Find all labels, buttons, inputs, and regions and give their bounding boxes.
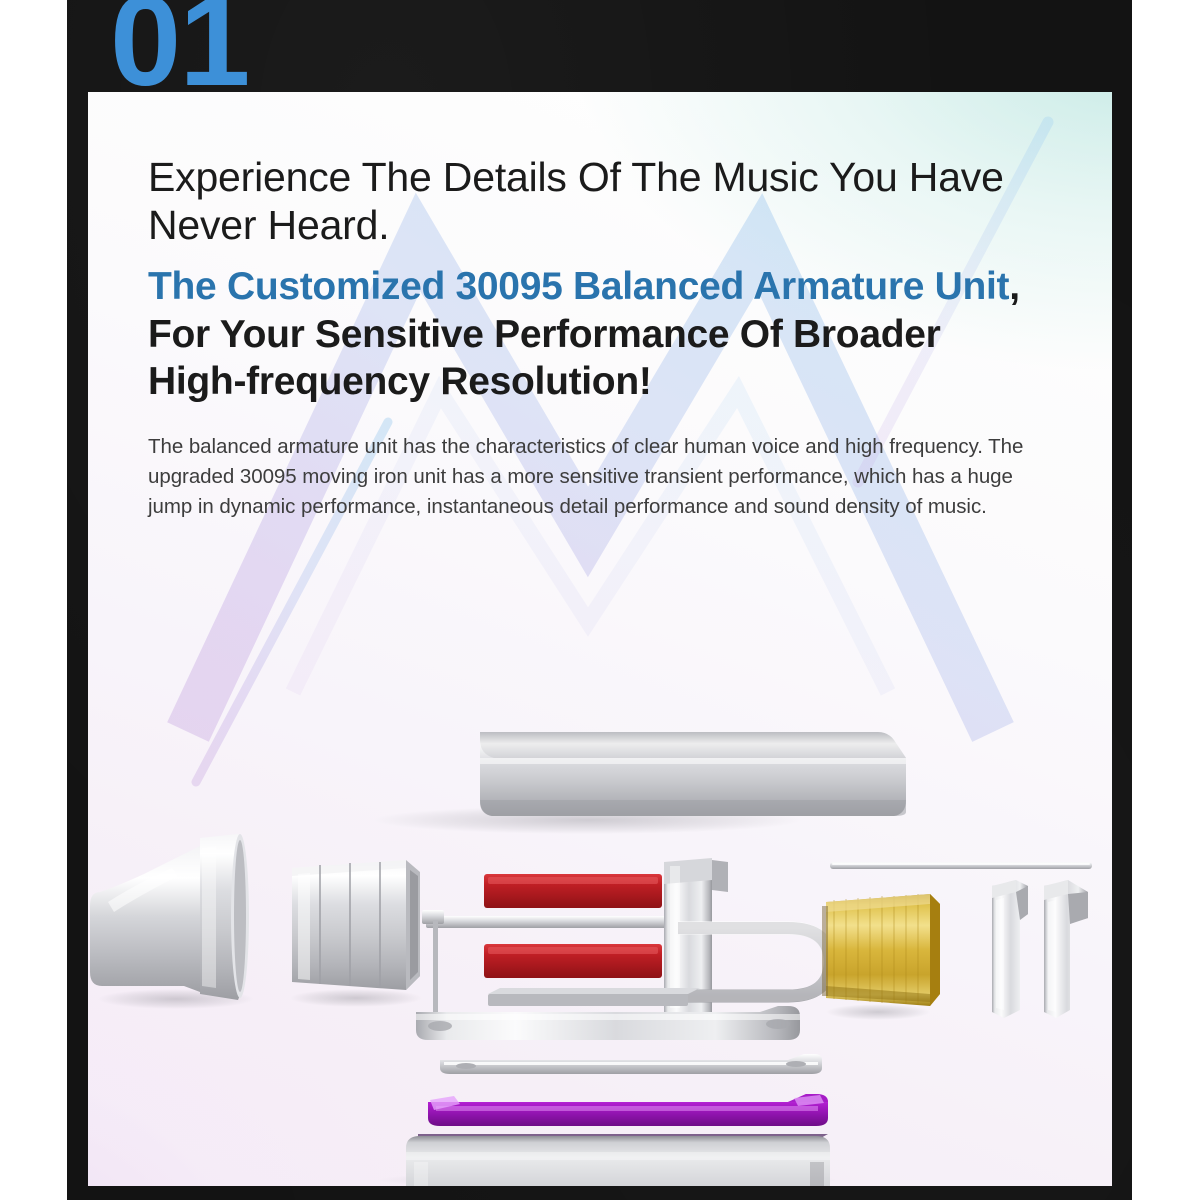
headline-line-2: Never Heard. <box>148 202 389 248</box>
part-ribbed-spacer-cylinder <box>290 860 422 1007</box>
page-subheading: The Customized 30095 Balanced Armature U… <box>148 263 1048 406</box>
part-lower-magnet-bar <box>484 944 662 978</box>
body-paragraph: The balanced armature unit has the chara… <box>148 432 1048 522</box>
part-base-frame-plate <box>416 1006 800 1040</box>
page-root: 01 <box>0 0 1200 1200</box>
part-right-terminal-bracket <box>1044 880 1088 1018</box>
part-upper-magnet-bar <box>484 874 662 908</box>
text-block: Experience The Details Of The Music You … <box>88 92 1112 522</box>
part-diaphragm-membrane <box>428 1094 828 1126</box>
subheading-accent: The Customized 30095 Balanced Armature U… <box>148 265 1009 308</box>
part-drive-pin <box>433 920 438 1028</box>
part-top-housing-cover <box>373 732 906 834</box>
part-shim-plate <box>440 1054 822 1074</box>
part-copper-voice-coil <box>822 894 940 1020</box>
section-number: 01 <box>110 0 248 106</box>
part-armature-assembly <box>422 858 836 1028</box>
part-bottom-housing-shell <box>378 1134 838 1186</box>
part-thin-rod <box>830 862 1092 869</box>
content-card: Experience The Details Of The Music You … <box>88 92 1112 1186</box>
product-exploded-diagram <box>88 562 1112 1186</box>
headline-line-1: Experience The Details Of The Music You … <box>148 154 1004 200</box>
part-left-terminal-bracket <box>992 880 1028 1018</box>
part-sound-nozzle <box>90 834 254 1009</box>
page-headline: Experience The Details Of The Music You … <box>148 154 1038 250</box>
